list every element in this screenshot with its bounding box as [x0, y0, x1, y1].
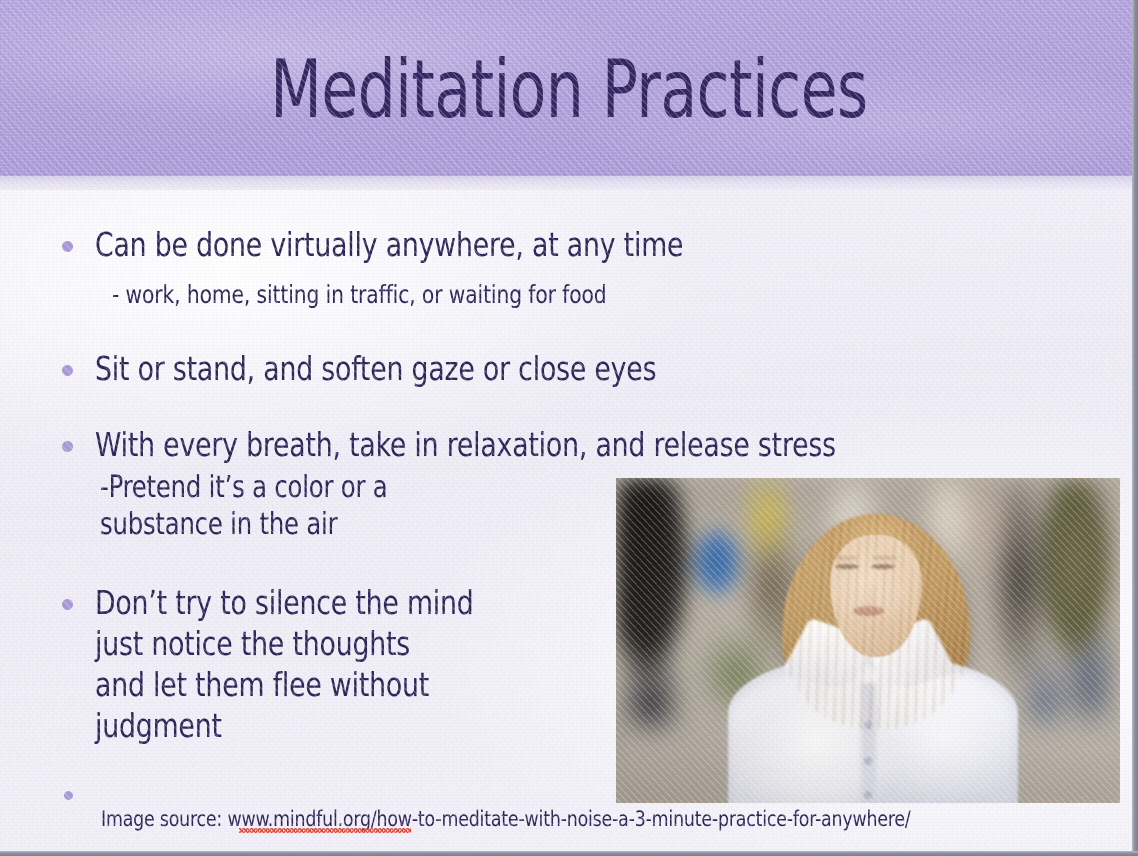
- bullet-text-line: judgment: [95, 705, 474, 746]
- bullet-text: With every breath, take in relaxation, a…: [95, 424, 836, 465]
- bullet-text: Sit or stand, and soften gaze or close e…: [95, 348, 656, 389]
- slide-edge-bottom: [0, 851, 1138, 856]
- bullet-text-block: Don’t try to silence the mind just notic…: [95, 582, 516, 746]
- spellcheck-squiggle-underline: [239, 828, 411, 833]
- presentation-slide: Meditation Practices Can be done virtual…: [0, 0, 1138, 856]
- sub-bullet-text: substance in the air: [100, 506, 337, 543]
- bullet-dot-icon: [64, 791, 73, 800]
- list-item: Can be done virtually anywhere, at any t…: [62, 224, 749, 265]
- bullet-dot-icon: [62, 241, 73, 252]
- sub-bullet-text: -Pretend it’s a color or a: [100, 469, 388, 506]
- page-title: Meditation Practices: [97, 44, 1042, 136]
- list-item: Don’t try to silence the mind just notic…: [62, 582, 516, 746]
- bullet-dot-icon: [62, 599, 73, 610]
- slide-edge-right: [1132, 0, 1138, 856]
- photo-shirt-button: [864, 757, 872, 765]
- list-item: With every breath, take in relaxation, a…: [62, 424, 918, 465]
- photo-shirt-button: [864, 791, 872, 799]
- bullet-text: Don’t try to silence the mind: [95, 582, 474, 623]
- bullet-text-line: just notice the thoughts: [95, 623, 474, 664]
- bullet-dot-icon: [62, 365, 73, 376]
- bullet-dot-icon: [62, 441, 73, 452]
- bullet-text-line: and let them flee without: [95, 664, 474, 705]
- image-source-caption: Image source: www.mindful.org/how-to-med…: [101, 806, 911, 832]
- list-item: Sit or stand, and soften gaze or close e…: [62, 348, 719, 389]
- photo-image: [616, 478, 1120, 803]
- sub-bullet-text: - work, home, sitting in traffic, or wai…: [112, 276, 607, 314]
- bullet-text: Can be done virtually anywhere, at any t…: [95, 224, 683, 265]
